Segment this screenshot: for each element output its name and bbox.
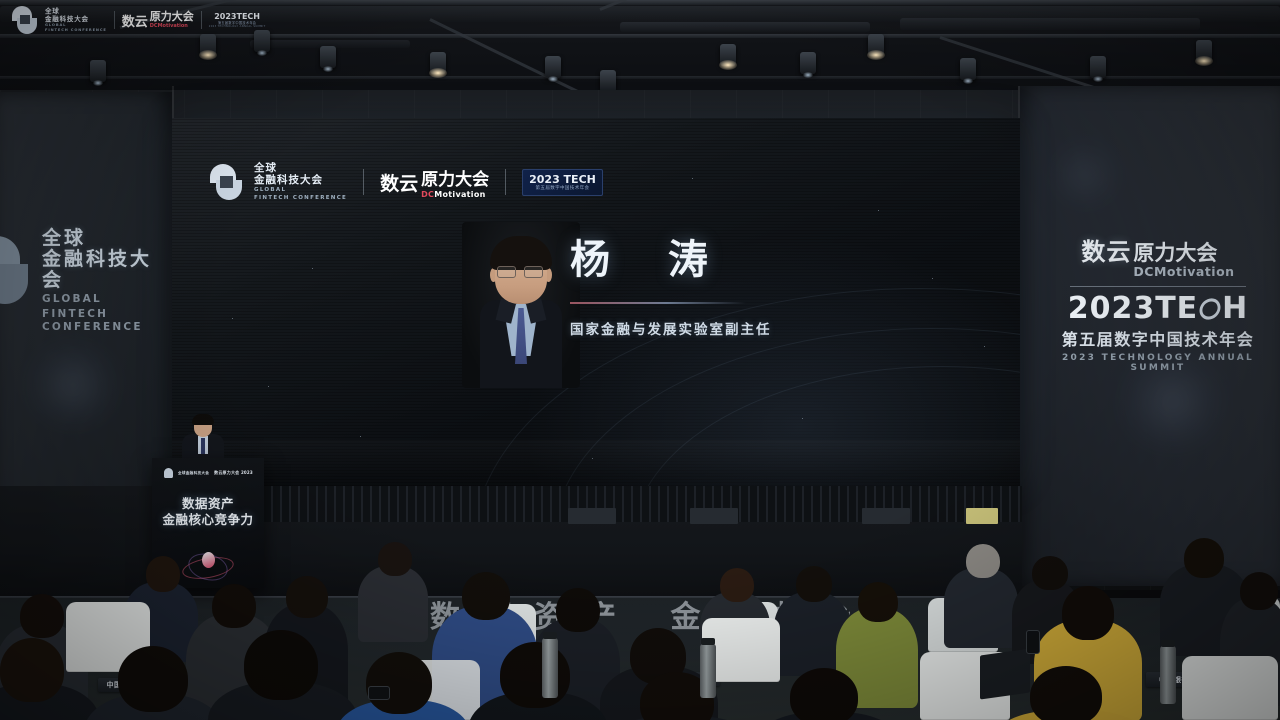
podium-title-line1: 数据资产	[152, 496, 264, 512]
stage-block-4	[966, 508, 998, 524]
right-wall-tech-lockup: 2023TEH	[1058, 293, 1258, 325]
stage-light-6	[600, 70, 616, 92]
audience-laptop	[980, 648, 1030, 699]
overlay-fintech-en2: FINTECH CONFERENCE	[45, 28, 107, 33]
stage-light-8	[800, 52, 816, 74]
live-speaker-at-podium	[180, 416, 226, 462]
water-bottle-cap-1	[543, 632, 557, 639]
speaker-name: 杨 涛	[570, 236, 870, 284]
fintech-logo-icon	[210, 164, 244, 200]
screen-dcm-shu: 数云	[380, 169, 418, 196]
stage-light-11	[1090, 56, 1106, 78]
stage-block-3	[862, 508, 910, 524]
overlay-fintech-mark-icon	[12, 6, 38, 34]
audience-phone-2	[368, 686, 390, 700]
water-bottle-cap-2	[701, 638, 715, 645]
stage-light-7	[720, 44, 736, 66]
right-wall-word-right: H	[1222, 293, 1248, 325]
fintech-mark-icon	[0, 236, 34, 304]
screen-tech-badge: 2023 TECH 第五届数字中国技术年会	[522, 169, 603, 196]
broadcast-overlay-logo-bar: 全球 金融科技大会 GLOBAL FINTECH CONFERENCE 数云 原…	[12, 6, 266, 34]
portrait-glasses-right	[524, 266, 543, 278]
truss-beam-low	[0, 76, 1280, 79]
podium-logo-cn-2: 数云原力大会 2023	[214, 470, 253, 476]
screen-header-logos: 全球 金融科技大会 GLOBAL FINTECH CONFERENCE 数云 原…	[210, 162, 603, 202]
left-wall-cn-line2: 金融科技大会	[42, 249, 170, 291]
water-bottle-3	[1160, 646, 1176, 704]
screen-dcm-main: 原力大会	[421, 165, 489, 190]
speaker-hair	[192, 414, 214, 425]
speaker-name-block: 杨 涛 国家金融与发展实验室副主任	[570, 236, 870, 338]
wall-nebula-right-top	[1040, 140, 1130, 210]
stage-block-2	[690, 508, 738, 524]
screen-fintech-en1: GLOBAL	[254, 187, 347, 194]
podium-logo-cn: 全球金融科技大会	[178, 471, 209, 475]
stage-light-9	[868, 34, 884, 56]
stage-light-10	[960, 58, 976, 80]
screen-logo-divider-1	[363, 169, 364, 195]
overlay-badge-en-sub: 2023 TECHNOLOGY ANNUAL SUMMIT	[209, 25, 266, 29]
left-wall-en-line1: GLOBAL	[42, 293, 170, 306]
podium-title: 数据资产 金融核心竞争力	[152, 496, 264, 528]
right-wall-main-en: DCMotivation	[1133, 264, 1234, 279]
wall-nebula-left	[18, 340, 128, 430]
speaker-title: 国家金融与发展实验室副主任	[570, 318, 870, 338]
led-screen: 全球 金融科技大会 GLOBAL FINTECH CONFERENCE 数云 原…	[172, 118, 1020, 486]
truss-beam-top	[0, 0, 1280, 5]
screen-badge-year: 2023 TECH	[529, 173, 596, 186]
screen-fintech-en2: FINTECH CONFERENCE	[254, 195, 347, 202]
stage-light-12	[1196, 40, 1212, 62]
speaker-portrait	[462, 222, 580, 388]
stage-block-1	[568, 508, 616, 524]
right-wall-shuyun: 数云	[1081, 232, 1131, 267]
chair-front-4	[1182, 656, 1278, 720]
right-wall-branding: 数云 原力大会 DCMotivation 2023TEH 第五届数字中国技术年会…	[1058, 232, 1258, 373]
speaker-tie	[201, 438, 205, 454]
right-wall-year: 2023	[1068, 293, 1156, 325]
right-wall-sub-en: 2023 TECHNOLOGY ANNUAL SUMMIT	[1058, 353, 1258, 373]
screen-dcm-en: DCMotivation	[421, 190, 489, 199]
ceiling-duct-b	[900, 18, 1200, 30]
ceiling-duct-a	[620, 22, 870, 32]
screen-fintech-cn2: 金融科技大会	[254, 174, 347, 186]
conference-stage-scene: 全球 金融科技大会 GLOBAL FINTECH CONFERENCE 数云 原…	[0, 0, 1280, 720]
portrait-glasses-left	[497, 266, 516, 278]
screen-dcm-en-white: Motivation	[434, 190, 485, 199]
portrait-hair	[490, 236, 552, 270]
overlay-badge-year: 2023TECH	[209, 12, 266, 21]
speaker-name-rule	[570, 302, 746, 304]
stage-light-3	[320, 46, 336, 68]
podium-title-line2: 金融核心竞争力	[152, 512, 264, 528]
water-bottle-cap-3	[1161, 640, 1175, 647]
podium-fintech-mark-icon	[164, 468, 173, 478]
screen-fintech-cn1: 全球	[254, 162, 347, 174]
overlay-fintech-cn1: 全球	[45, 7, 107, 15]
overlay-divider-2	[201, 11, 202, 29]
overlay-dcm-main: 原力大会	[150, 11, 194, 23]
stage-light-1	[200, 34, 216, 56]
water-bottle-2	[700, 644, 716, 698]
right-wall-word-left: TE	[1155, 293, 1198, 325]
screen-logo-divider-2	[505, 169, 506, 195]
screen-lower-band	[172, 440, 1020, 486]
right-wall-divider	[1070, 286, 1246, 287]
right-wall-sub-cn: 第五届数字中国技术年会	[1058, 326, 1258, 350]
left-wall-cn-line1: 全球	[42, 228, 170, 249]
stage-light-4	[430, 52, 446, 74]
stage-light-5	[545, 56, 561, 78]
left-wall-en-line2: FINTECH CONFERENCE	[42, 308, 170, 334]
overlay-dcm-shu: 数云	[122, 11, 148, 30]
overlay-fintech-cn2: 金融科技大会	[45, 15, 107, 23]
podium-logo-row: 全球金融科技大会 数云原力大会 2023	[164, 468, 253, 478]
truss-beam-mid	[0, 34, 1280, 38]
stage-light-13	[90, 60, 106, 82]
right-wall-main-cn: 原力大会	[1133, 241, 1217, 265]
screen-badge-sub: 第五届数字中国技术年会	[529, 186, 596, 192]
screen-dcm-en-red: DC	[421, 190, 434, 199]
water-bottle-1	[542, 638, 558, 698]
overlay-divider-1	[114, 11, 115, 29]
overlay-dcm-en: DCMotivation	[150, 23, 194, 29]
left-wall-branding: 全球 金融科技大会 GLOBAL FINTECH CONFERENCE	[0, 228, 170, 334]
audience-phone-1	[1026, 630, 1040, 654]
podium-orbit-graphic-icon	[182, 542, 234, 582]
orbit-ring-icon	[1198, 295, 1223, 323]
